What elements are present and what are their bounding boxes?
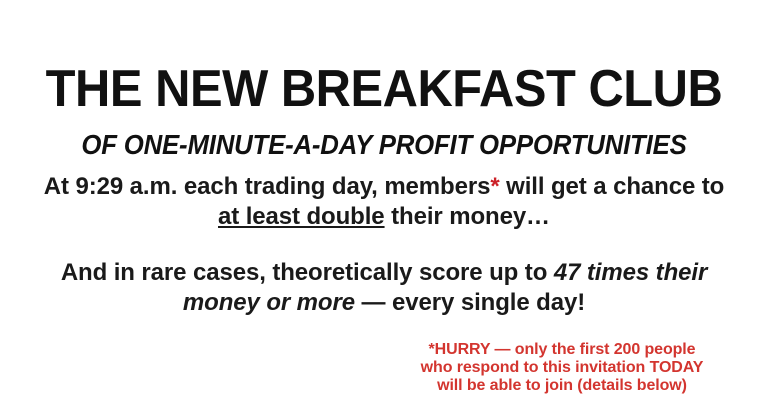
urgency-line-2: who respond to this invitation TODAY (396, 359, 728, 377)
offer-line2-lead: chance to (613, 173, 724, 200)
rare-emphasis-47-times: 47 times (554, 259, 649, 286)
page-subtitle: OF ONE-MINUTE-A-DAY PROFIT OPPORTUNITIES (31, 130, 738, 161)
page-title: THE NEW BREAKFAST CLUB (23, 62, 745, 116)
offer-line1-tail: will get a (500, 173, 607, 200)
offer-line2-tail: their money… (385, 203, 550, 230)
paragraph-primary-offer: At 9:29 a.m. each trading day, members* … (34, 172, 734, 232)
urgency-line-1: *HURRY — only the first 200 people (396, 341, 728, 359)
members-footnote-asterisk: * (490, 173, 499, 200)
urgency-disclaimer: *HURRY — only the first 200 people who r… (396, 341, 728, 395)
urgency-line-3: will be able to join (details below) (396, 377, 728, 395)
rare-line1-lead: And in rare cases, theoretically score u… (61, 259, 554, 286)
offer-emphasis-at-least-double: at least double (218, 203, 385, 230)
promo-banner: THE NEW BREAKFAST CLUB OF ONE-MINUTE-A-D… (0, 0, 768, 413)
rare-line2-tail: — every single day! (355, 289, 585, 316)
body-copy: At 9:29 a.m. each trading day, members* … (34, 172, 734, 318)
offer-line1-lead: At 9:29 a.m. each trading day, members (44, 173, 491, 200)
paragraph-rare-cases: And in rare cases, theoretically score u… (34, 258, 734, 318)
